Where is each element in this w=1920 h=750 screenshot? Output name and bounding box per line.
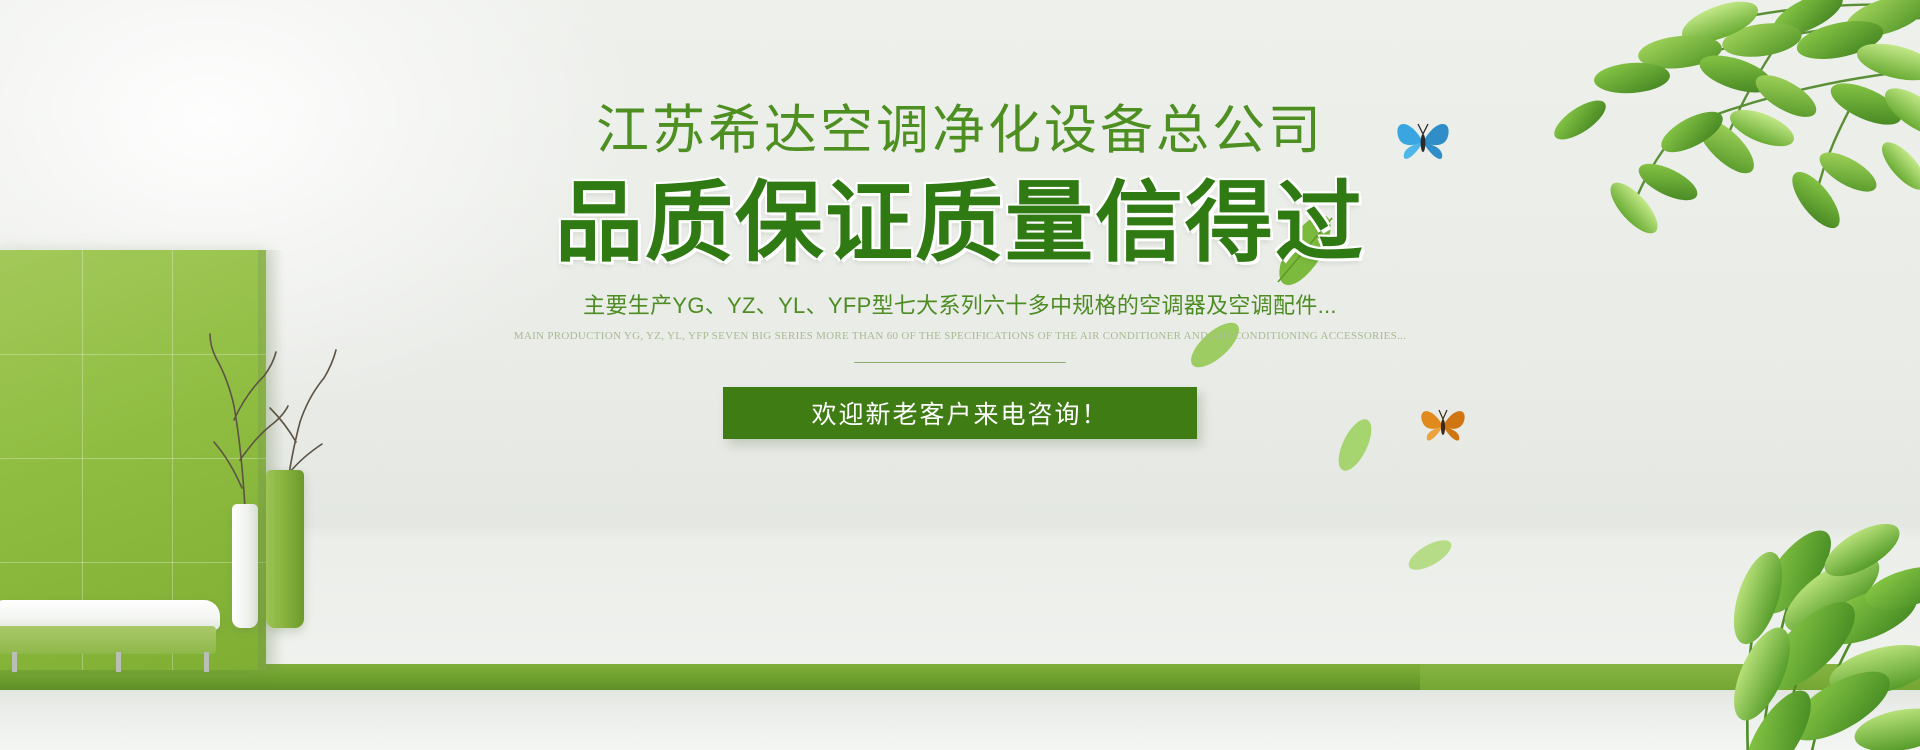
contact-cta-button[interactable]: 欢迎新老客户来电咨询！ bbox=[723, 387, 1197, 439]
banner-text-block: 江苏希达空调净化设备总公司 品质保证质量信得过 主要生产YG、YZ、YL、YFP… bbox=[0, 0, 1920, 750]
promo-banner: 江苏希达空调净化设备总公司 品质保证质量信得过 主要生产YG、YZ、YL、YFP… bbox=[0, 0, 1920, 750]
product-subtitle: 主要生产YG、YZ、YL、YFP型七大系列六十多中规格的空调器及空调配件... bbox=[583, 293, 1337, 319]
contact-cta-label: 欢迎新老客户来电咨询！ bbox=[811, 395, 1108, 431]
slogan-headline: 品质保证质量信得过 bbox=[555, 179, 1365, 267]
text-divider bbox=[854, 362, 1066, 363]
company-name: 江苏希达空调净化设备总公司 bbox=[596, 104, 1324, 157]
product-subtitle-english: MAIN PRODUCTION YG, YZ, YL, YFP SEVEN BI… bbox=[514, 330, 1407, 343]
